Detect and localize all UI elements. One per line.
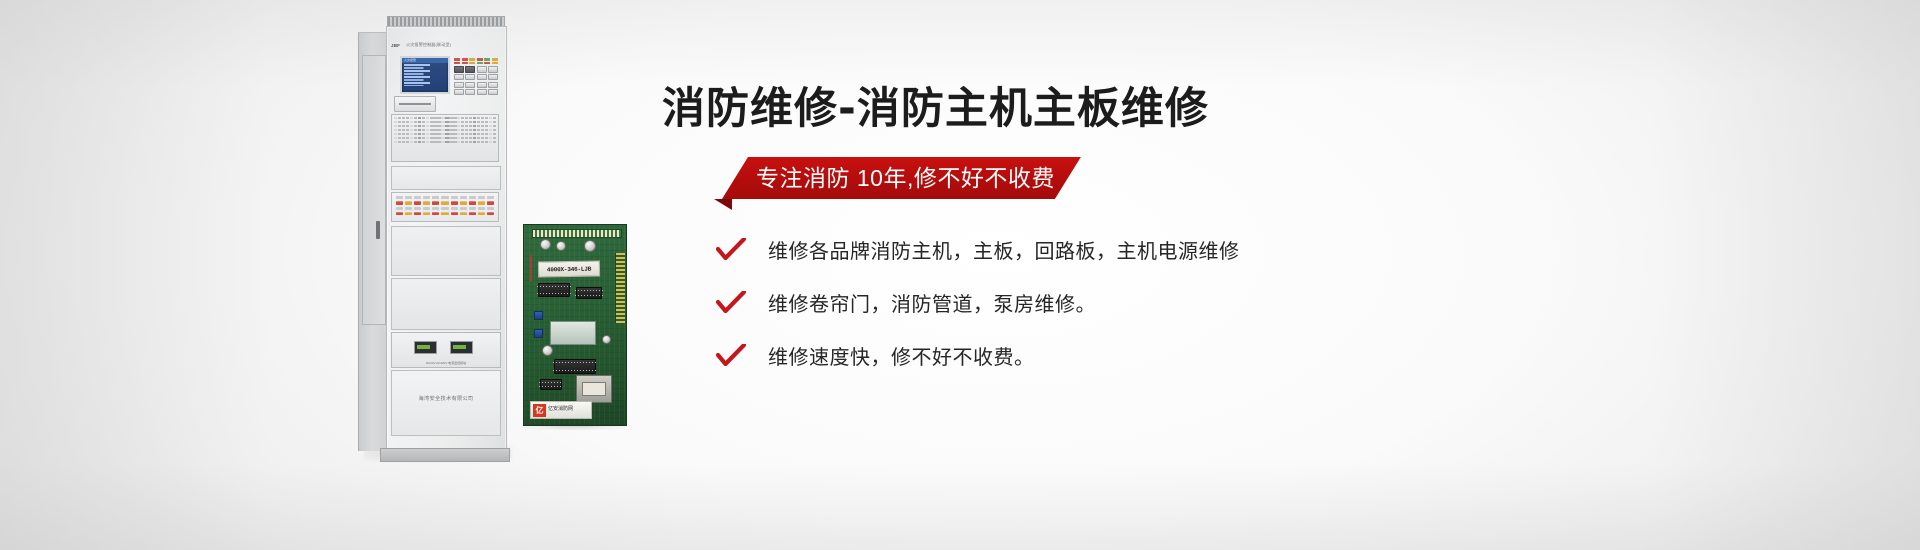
tagline-ribbon: 专注消防 10年,修不好不收费 (722, 157, 1081, 199)
feature-text: 维修卷帘门，消防管道，泵房维修。 (768, 288, 1096, 317)
cabinet-footer-logo: 海湾安全技术有限公司 (392, 395, 500, 402)
pcb-chip (540, 379, 562, 390)
check-icon (716, 344, 746, 368)
list-item: 维修速度快，修不好不收费。 (716, 341, 1300, 370)
cabinet-base-plinth (380, 448, 510, 462)
current-meter-display (450, 341, 473, 354)
pcb-capacitor (540, 239, 551, 250)
pcb-wire (530, 255, 532, 281)
meter-caption: DC24V AC220V 电源监控模块 (392, 361, 500, 365)
watermark-badge: 亿 亿安消防网 (530, 401, 592, 419)
badge-logo-icon: 亿 (533, 404, 546, 417)
pcb-part-number-label: 4000X-346-LJB (538, 260, 600, 277)
check-icon (716, 238, 746, 262)
fire-alarm-cabinet-image: JBF 火灾报警控制器(联动型) 火灾报警 (358, 14, 510, 466)
badge-name: 亿安消防网 (548, 407, 573, 413)
cabinet-lcd-screen: 火灾报警 (400, 56, 450, 94)
pcb-chip (576, 287, 602, 299)
cabinet-brand-mark: JBF (391, 43, 400, 48)
pcb-board: 4000X-346-LJB 亿 亿安消防网 (523, 224, 627, 426)
cabinet-side-door (362, 55, 386, 325)
pcb-capacitor (584, 240, 596, 252)
list-item: 维修各品牌消防主机，主板，回路板，主机电源维修 (716, 235, 1300, 264)
pcb-trimpot (534, 311, 543, 320)
cabinet-printer-slot (394, 96, 436, 112)
cabinet-blank-panel-1 (391, 166, 501, 190)
feature-list: 维修各品牌消防主机，主板，回路板，主机电源维修 维修卷帘门，消防管道，泵房维修。… (660, 235, 1300, 370)
pcb-chip (554, 359, 596, 374)
cabinet-brand-row: JBF 火灾报警控制器(联动型) (391, 40, 499, 50)
cabinet-terminal-matrix (391, 114, 499, 162)
cabinet-side-panel (358, 32, 388, 451)
promo-banner: JBF 火灾报警控制器(联动型) 火灾报警 (0, 0, 1920, 550)
pcb-capacitor (602, 335, 611, 344)
pcb-top-connector-header (532, 229, 622, 238)
pcb-capacitor (556, 241, 566, 251)
cabinet-keypad (454, 58, 498, 90)
check-icon (716, 291, 746, 315)
voltage-meter-display (414, 341, 437, 354)
cabinet-power-meter-module: DC24V AC220V 电源监控模块 (391, 332, 501, 368)
pcb-eprom-socket (576, 375, 612, 403)
mainboard-pcb-image: 4000X-346-LJB 亿 亿安消防网 (523, 224, 627, 426)
pcb-capacitor (542, 345, 553, 356)
tagline-ribbon-row: 专注消防 10年,修不好不收费 (660, 157, 1300, 199)
cabinet-blank-panel-2 (391, 226, 501, 276)
feature-text: 维修速度快，修不好不收费。 (768, 341, 1035, 370)
page-title: 消防维修-消防主机主板维修 (662, 88, 1300, 131)
cabinet-door-handle-icon (376, 221, 380, 239)
list-item: 维修卷帘门，消防管道，泵房维修。 (716, 288, 1300, 317)
pcb-trimpot (534, 329, 543, 338)
pcb-edge-connector (615, 253, 625, 323)
cabinet-brand-line: 火灾报警控制器(联动型) (406, 42, 451, 48)
lcd-text-rows (402, 63, 448, 89)
keypad-status-leds (454, 58, 498, 64)
keypad-buttons (454, 66, 498, 95)
banner-content: 消防维修-消防主机主板维修 专注消防 10年,修不好不收费 维修各品牌消防主机，… (660, 88, 1300, 370)
cabinet-lower-door: 海湾安全技术有限公司 (391, 370, 501, 436)
cabinet-indicator-lamp-strip (391, 192, 499, 222)
cabinet-blank-panel-3 (391, 278, 501, 330)
feature-text: 维修各品牌消防主机，主板，回路板，主机电源维修 (768, 235, 1240, 264)
pcb-module (550, 321, 596, 345)
pcb-chip (538, 283, 570, 297)
ribbon-fold-icon (714, 199, 732, 210)
